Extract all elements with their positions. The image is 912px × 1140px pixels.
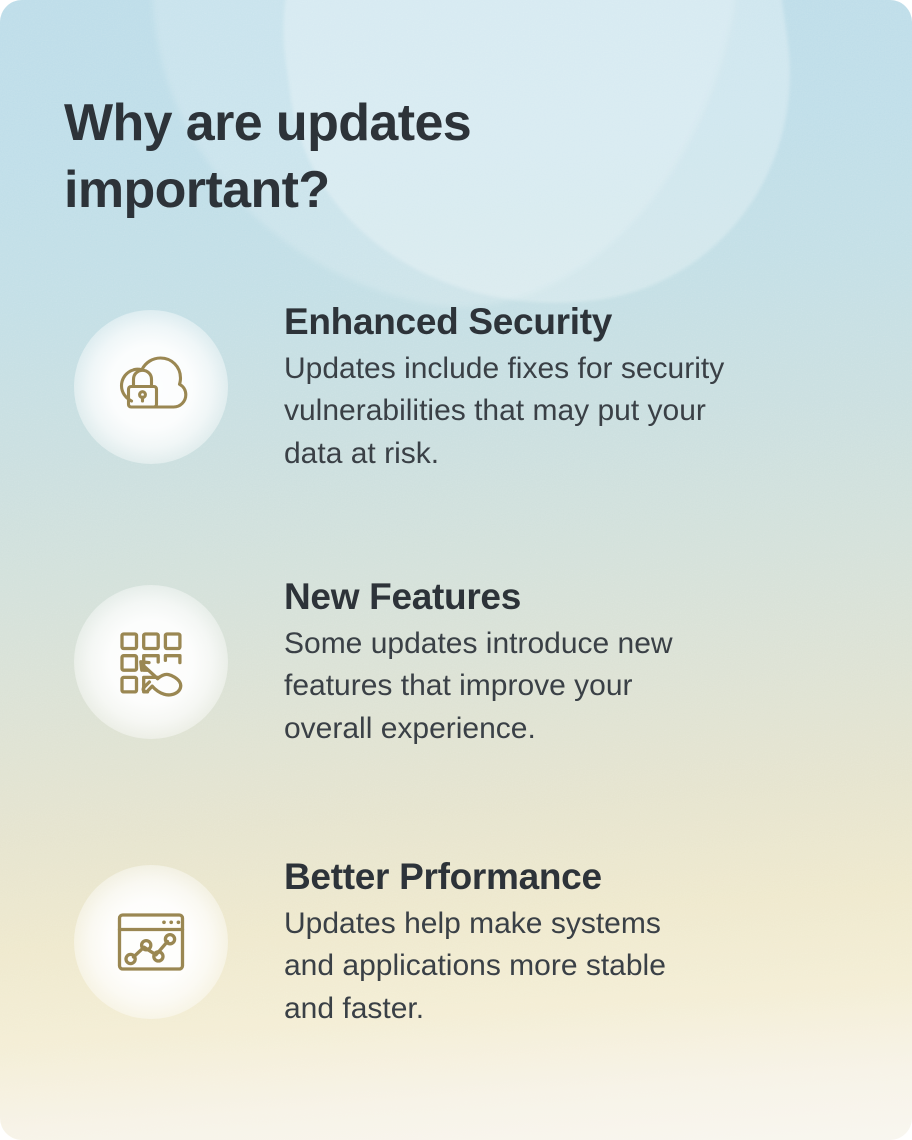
feature-icon-badge bbox=[76, 587, 226, 737]
feature-icon-badge bbox=[76, 867, 226, 1017]
feature-body: Updates include fixes for security vulne… bbox=[284, 348, 864, 476]
feature-text-group: Better Prformance Updates help make syst… bbox=[284, 855, 864, 1030]
feature-body: Updates help make systems and applicatio… bbox=[284, 903, 864, 1031]
feature-heading: Better Prformance bbox=[284, 855, 864, 899]
infographic-card: Why are updates important? Enhanced Secu… bbox=[0, 0, 912, 1140]
grid-tap-hand-icon bbox=[109, 620, 193, 704]
feature-heading: New Features bbox=[284, 575, 864, 619]
feature-heading: Enhanced Security bbox=[284, 300, 864, 344]
feature-body: Some updates introduce new features that… bbox=[284, 623, 864, 751]
page-title: Why are updates important? bbox=[64, 90, 604, 223]
browser-line-chart-icon bbox=[109, 900, 193, 984]
feature-text-group: New Features Some updates introduce new … bbox=[284, 575, 864, 750]
feature-icon-badge bbox=[76, 312, 226, 462]
feature-text-group: Enhanced Security Updates include fixes … bbox=[284, 300, 864, 475]
cloud-lock-icon bbox=[109, 345, 193, 429]
